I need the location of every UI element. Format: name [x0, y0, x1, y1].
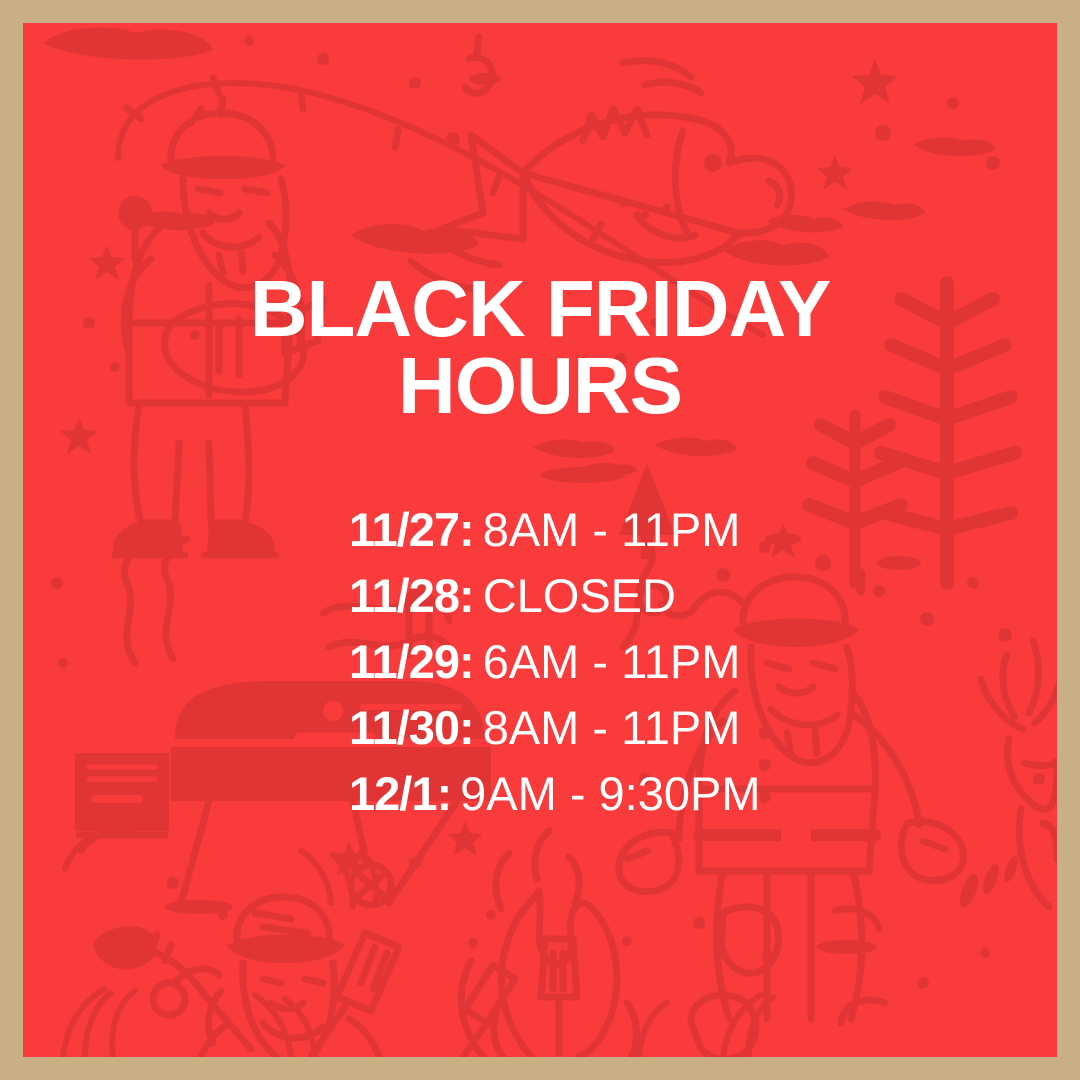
hours-time: 6AM - 11PM — [483, 635, 741, 688]
hours-time: CLOSED — [483, 569, 676, 622]
hours-time: 9AM - 9:30PM — [460, 767, 760, 820]
hours-row: 11/27:8AM - 11PM — [349, 497, 969, 563]
hours-row: 11/28:CLOSED — [349, 563, 969, 629]
hours-date: 11/30: — [349, 701, 474, 754]
headline-line-1: BLACK FRIDAY — [23, 271, 1057, 348]
hours-row: 11/30:8AM - 11PM — [349, 695, 969, 761]
page-title: BLACK FRIDAY HOURS — [23, 271, 1057, 425]
hours-date: 12/1: — [349, 767, 451, 820]
hours-list: 11/27:8AM - 11PM 11/28:CLOSED 11/29:6AM … — [349, 497, 969, 827]
hours-time: 8AM - 11PM — [483, 503, 741, 556]
hours-time: 8AM - 11PM — [483, 701, 741, 754]
hours-date: 11/27: — [349, 503, 474, 556]
hours-row: 11/29:6AM - 11PM — [349, 629, 969, 695]
hours-date: 11/28: — [349, 569, 474, 622]
hours-row: 12/1:9AM - 9:30PM — [349, 761, 969, 827]
hours-date: 11/29: — [349, 635, 474, 688]
poster-inner-panel: BLACK FRIDAY HOURS 11/27:8AM - 11PM 11/2… — [23, 23, 1057, 1057]
poster-content: BLACK FRIDAY HOURS 11/27:8AM - 11PM 11/2… — [23, 23, 1057, 1057]
headline-line-2: HOURS — [23, 348, 1057, 425]
black-friday-hours-graphic: BLACK FRIDAY HOURS 11/27:8AM - 11PM 11/2… — [0, 0, 1080, 1080]
